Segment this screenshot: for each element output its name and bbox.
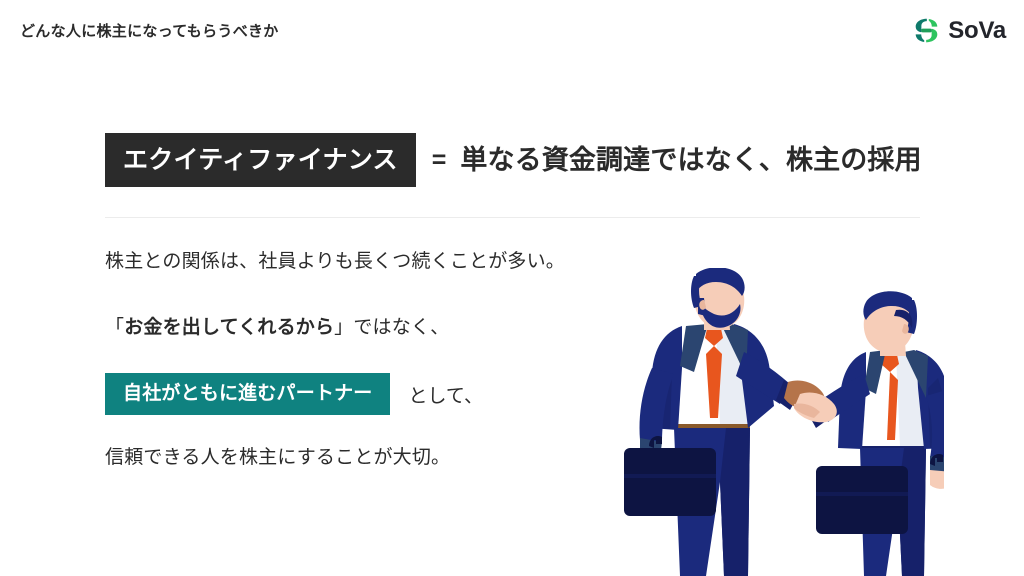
section-divider: [105, 217, 920, 218]
headline-equals-sign: =: [432, 148, 447, 173]
partner-badge: 自社がともに進むパートナー: [105, 373, 390, 415]
quote-emphasis: お金を出してくれるから: [124, 317, 334, 338]
quote-close: 」ではなく、: [334, 317, 449, 338]
briefcase-left: [624, 436, 716, 516]
headline-statement: 単なる資金調達ではなく、株主の採用: [460, 147, 921, 174]
handshake-hands: [784, 380, 837, 422]
headline-badge-equity-finance: エクイティファイナンス: [105, 133, 416, 187]
figure-bearded-man-left: [640, 268, 801, 576]
sova-s-mark-icon: [913, 17, 940, 44]
copy-line-trust: 信頼できる人を株主にすることが大切。: [105, 444, 625, 473]
two-businessmen-handshake-illustration: [608, 268, 944, 576]
brand-wordmark: SoVa: [948, 19, 1006, 43]
copy-line-not-just-money: 「お金を出してくれるから」ではなく、: [105, 314, 625, 343]
quote-open: 「: [105, 317, 124, 338]
body-copy: 株主との関係は、社員よりも長くつ続くことが多い。 「お金を出してくれるから」では…: [105, 248, 625, 473]
copy-line-relationship: 株主との関係は、社員よりも長くつ続くことが多い。: [105, 248, 625, 277]
partner-suffix: として、: [408, 381, 482, 408]
slide-header: どんな人に株主になってもらうべきか SoVa: [0, 0, 1024, 58]
page-title: どんな人に株主になってもらうべきか: [20, 20, 279, 41]
partner-row: 自社がともに進むパートナー として、: [105, 373, 625, 415]
brand-logo: SoVa: [913, 17, 1006, 44]
headline: エクイティファイナンス = 単なる資金調達ではなく、株主の採用: [105, 133, 922, 187]
